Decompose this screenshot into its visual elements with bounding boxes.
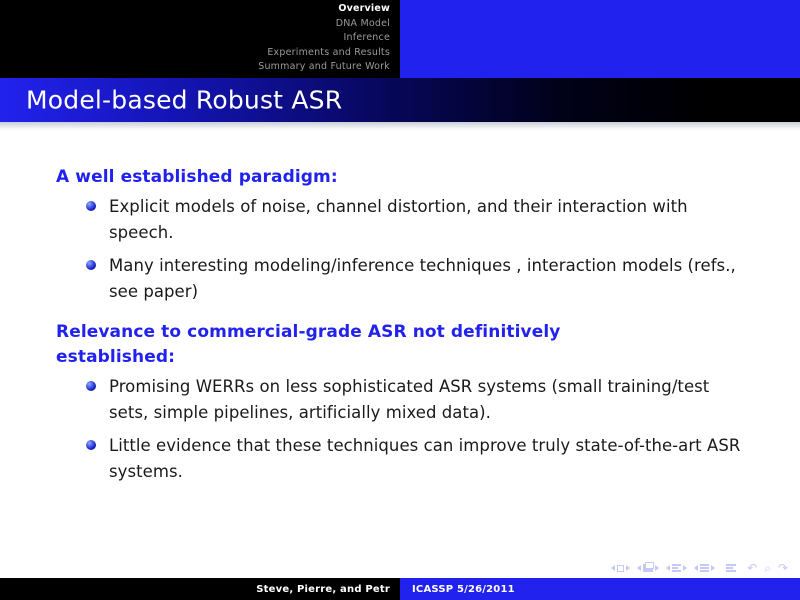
next-subsection-icon[interactable] (683, 565, 687, 571)
back-icon[interactable]: ↶ (747, 562, 757, 574)
slide-headline-bar: Overview DNA Model Inference Experiments… (0, 0, 800, 78)
block-heading-1: A well established paradigm: (56, 165, 676, 190)
previous-section-icon[interactable] (694, 565, 698, 571)
section-navigation-list: Overview DNA Model Inference Experiments… (0, 0, 400, 78)
slide-footer: Steve, Pierre, and Petr ICASSP 5/26/2011 (0, 578, 800, 600)
previous-slide-icon[interactable] (611, 565, 615, 571)
section-navigation-group[interactable] (694, 564, 715, 572)
next-slide-icon[interactable] (626, 565, 630, 571)
subsection-navigation-group[interactable] (666, 564, 687, 572)
slide-navigation-group[interactable] (611, 565, 630, 572)
frame-icon[interactable] (643, 564, 653, 572)
list-item-text: Little evidence that these techniques ca… (109, 436, 740, 481)
nav-item-overview[interactable]: Overview (0, 2, 390, 17)
subsection-icon[interactable] (672, 564, 681, 572)
forward-icon[interactable]: ↷ (778, 562, 788, 574)
list-item-text: Many interesting modeling/inference tech… (109, 256, 736, 301)
previous-subsection-icon[interactable] (666, 565, 670, 571)
document-icon[interactable] (726, 564, 736, 572)
list-item: Explicit models of noise, channel distor… (86, 194, 752, 245)
footer-event-area: ICASSP 5/26/2011 (400, 578, 800, 600)
bullet-list-2: Promising WERRs on less sophisticated AS… (56, 374, 752, 484)
list-item: Little evidence that these techniques ca… (86, 433, 752, 484)
section-icon[interactable] (700, 564, 709, 572)
slide-body: A well established paradigm: Explicit mo… (0, 131, 800, 545)
list-item-text: Promising WERRs on less sophisticated AS… (109, 377, 709, 422)
title-bar-shadow (0, 122, 800, 131)
footer-event: ICASSP 5/26/2011 (412, 584, 515, 595)
footer-authors-area: Steve, Pierre, and Petr (0, 578, 400, 600)
page-title: Model-based Robust ASR (26, 86, 342, 115)
next-frame-icon[interactable] (655, 565, 659, 571)
slide-title-bar: Model-based Robust ASR (0, 78, 800, 122)
search-icon[interactable]: ⌕ (764, 562, 771, 574)
nav-item-dna-model[interactable]: DNA Model (0, 17, 390, 32)
bullet-icon (86, 381, 96, 391)
slide-icon[interactable] (617, 565, 624, 572)
previous-frame-icon[interactable] (637, 565, 641, 571)
beamer-navigation-symbols[interactable]: ↶ ⌕ ↷ (611, 562, 788, 574)
nav-item-experiments-and-results[interactable]: Experiments and Results (0, 46, 390, 61)
footer-authors: Steve, Pierre, and Petr (256, 584, 390, 595)
bullet-icon (86, 201, 96, 211)
bullet-icon (86, 440, 96, 450)
nav-item-inference[interactable]: Inference (0, 31, 390, 46)
nav-item-summary-and-future-work[interactable]: Summary and Future Work (0, 60, 390, 75)
bullet-list-1: Explicit models of noise, channel distor… (56, 194, 752, 304)
list-item: Promising WERRs on less sophisticated AS… (86, 374, 752, 425)
next-section-icon[interactable] (711, 565, 715, 571)
frame-navigation-group[interactable] (637, 564, 659, 572)
list-item-text: Explicit models of noise, channel distor… (109, 197, 688, 242)
block-heading-2: Relevance to commercial-grade ASR not de… (56, 320, 666, 370)
list-item: Many interesting modeling/inference tech… (86, 253, 752, 304)
bullet-icon (86, 260, 96, 270)
